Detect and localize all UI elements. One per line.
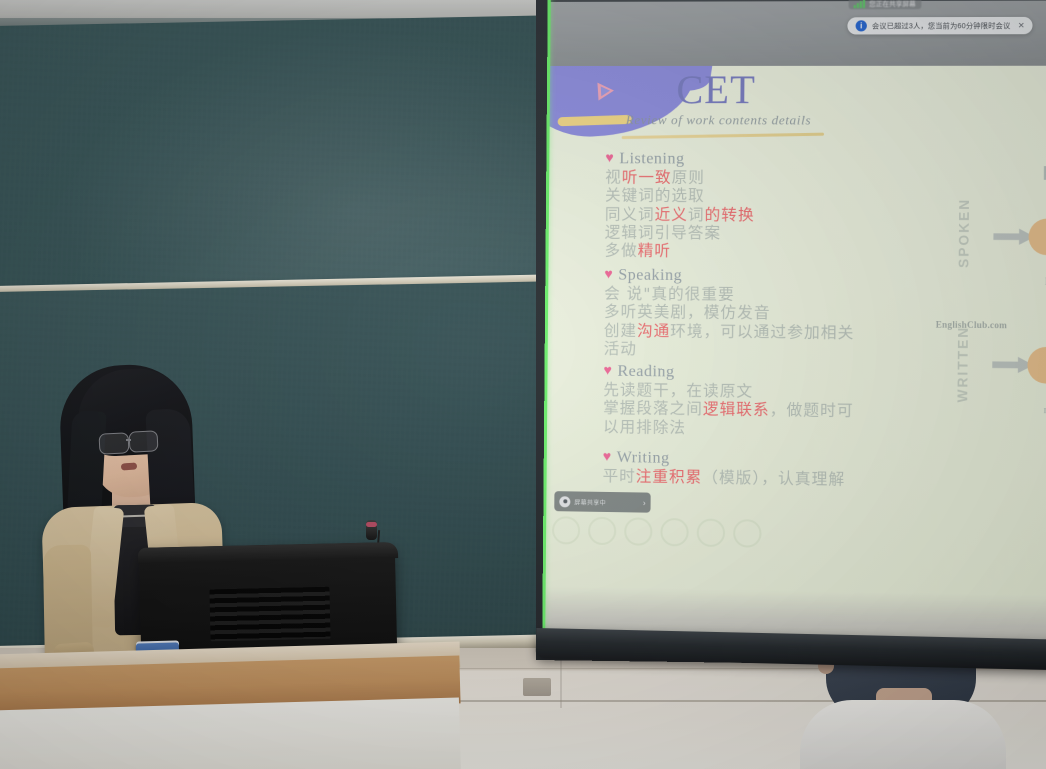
wall-outlet-plate <box>523 678 551 696</box>
signal-bars-icon <box>854 0 865 8</box>
decor-circle <box>660 518 688 547</box>
record-dot-icon[interactable] <box>559 496 570 507</box>
highlighted-text: 沟通 <box>637 321 670 339</box>
decor-circle <box>697 518 726 547</box>
body-text: 活动 <box>604 339 637 357</box>
slide-subtitle: Review of work contents details <box>626 112 811 128</box>
play-triangle-inner-icon <box>601 86 611 97</box>
highlighted-text: 逻辑联系 <box>703 400 770 419</box>
screen-share-status-label: 您正在共享屏幕 <box>869 0 916 8</box>
body-text: 先读题干，在读原文 <box>603 381 753 401</box>
cet-review-slide: CET Review of work contents details ♥Lis… <box>543 66 1046 649</box>
diagram-label-written: WRITTEN <box>955 326 971 403</box>
section-body-line: 同义词近义词的转换 <box>605 205 940 225</box>
body-text: 掌握段落之间 <box>603 399 703 418</box>
body-text: （模版），认真理解 <box>702 468 845 488</box>
screen-share-status-bar[interactable]: 您正在共享屏幕 <box>849 0 921 9</box>
section-body-line: 创建沟通环境，可以通过参加相关 <box>604 321 939 343</box>
mini-toolbar-label: 屏幕共享中 <box>574 497 606 507</box>
student-white-shirt <box>800 700 1006 769</box>
slide-section-speaking: ♥Speaking会 说"真的很重要多听英美剧，模仿发音创建沟通环境，可以通过参… <box>604 266 940 361</box>
podium-front-panel <box>0 697 461 769</box>
body-text: 会 说"真的很重要 <box>604 284 735 303</box>
diagram-label-spoken: SPOKEN <box>956 198 972 268</box>
presenter-glasses-left-lens <box>98 432 129 455</box>
chevron-right-icon[interactable]: › <box>643 498 646 507</box>
podium-monitor-vents <box>209 587 330 642</box>
highlighted-text: 近义 <box>655 205 688 223</box>
body-text: 以用排除法 <box>603 417 686 436</box>
heart-icon: ♥ <box>603 451 612 465</box>
presenter-glasses-bridge <box>126 439 131 441</box>
highlighted-text: 注重积累 <box>636 467 703 486</box>
slide-section-writing: ♥Writing平时注重积累（模版），认真理解 <box>603 449 938 490</box>
highlighted-text: 精听 <box>638 242 671 260</box>
section-body-line: 以用排除法 <box>603 417 938 440</box>
section-heading-label: Writing <box>617 449 670 468</box>
body-text: 逻辑词引导答案 <box>605 223 722 242</box>
section-body-line: 平时注重积累（模版），认真理解 <box>603 467 938 490</box>
section-body-line: 活动 <box>604 339 939 361</box>
section-body-line: 关键词的选取 <box>605 187 940 207</box>
body-text: 词 <box>688 205 705 223</box>
meeting-notification-toast[interactable]: i 会议已超过3人，您当前为60分钟限时会议 ✕ <box>847 17 1033 35</box>
englishclub-watermark: EnglishClub.com <box>936 319 1007 330</box>
body-text: 多听英美剧，模仿发音 <box>604 303 771 323</box>
body-text: 关键词的选取 <box>605 187 705 206</box>
microphone-indicator <box>366 522 377 527</box>
info-icon: i <box>856 20 867 31</box>
close-icon[interactable]: ✕ <box>1018 21 1025 30</box>
screenshot-scene: 您正在共享屏幕 i 会议已超过3人，您当前为60分钟限时会议 ✕ CET Rev… <box>0 0 1046 769</box>
body-text: 同义词 <box>605 205 655 223</box>
slide-section-reading: ♥Reading先读题干，在读原文掌握段落之间逻辑联系，做题时可以用排除法 <box>603 363 939 440</box>
decor-circle <box>552 516 580 544</box>
slide-divider-rule <box>622 133 824 139</box>
body-text: 环境，可以通过参加相关 <box>670 322 854 342</box>
section-heading-label: Reading <box>617 363 674 382</box>
section-heading-label: Listening <box>619 150 685 168</box>
body-text: 创建 <box>604 321 637 339</box>
body-text: 视 <box>605 168 622 186</box>
meeting-notification-text: 会议已超过3人，您当前为60分钟限时会议 <box>872 20 1011 30</box>
body-text: 多做 <box>605 241 638 259</box>
heart-icon: ♥ <box>605 152 614 166</box>
presenter-mouth <box>121 462 137 470</box>
body-text: 平时 <box>603 467 636 486</box>
highlighted-text: 的转换 <box>705 205 755 223</box>
decor-circle <box>588 517 616 546</box>
body-text: 原则 <box>672 168 705 186</box>
section-body-line: 逻辑词引导答案 <box>605 223 940 243</box>
section-heading-label: Speaking <box>618 267 682 286</box>
projector-screen: 您正在共享屏幕 i 会议已超过3人，您当前为60分钟限时会议 ✕ CET Rev… <box>543 0 1046 649</box>
section-body-line: 多做精听 <box>605 241 940 262</box>
englishclub-diagram: IN SPOKEN WRITTEN lis r <box>934 163 1046 469</box>
slide-section-listening: ♥Listening视听一致原则关键词的选取同义词近义词的转换逻辑词引导答案多做… <box>605 150 941 262</box>
section-heading: ♥Listening <box>605 150 940 169</box>
highlighted-text: 听一致 <box>622 168 672 186</box>
screen-share-mini-toolbar[interactable]: 屏幕共享中 › <box>554 491 650 513</box>
slide-decor-circles <box>552 516 762 548</box>
heart-icon: ♥ <box>603 365 612 379</box>
presenter-glasses-right-lens <box>128 430 158 452</box>
body-text: ，做题时可 <box>770 401 854 420</box>
slide-title: CET <box>676 70 756 110</box>
decor-circle <box>624 517 652 546</box>
section-body-line: 视听一致原则 <box>605 168 940 188</box>
diagram-title: IN <box>1042 164 1046 186</box>
decor-circle <box>733 519 762 548</box>
heart-icon: ♥ <box>604 268 613 282</box>
